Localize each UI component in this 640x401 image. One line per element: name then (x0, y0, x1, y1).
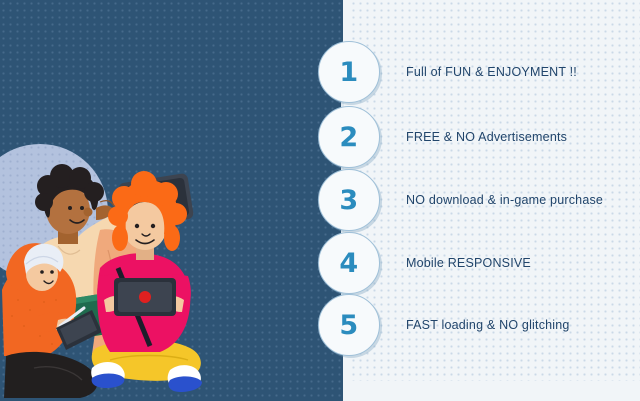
slide-canvas: 1 Full of FUN & ENJOYMENT !! 2 FREE & NO… (0, 0, 640, 401)
feature-number-4: 4 (339, 250, 358, 277)
feature-label-1: Full of FUN & ENJOYMENT !! (406, 65, 577, 79)
feature-item-1[interactable]: 1 Full of FUN & ENJOYMENT !! (318, 42, 577, 102)
feature-item-4[interactable]: 4 Mobile RESPONSIVE (318, 233, 531, 293)
feature-label-2: FREE & NO Advertisements (406, 130, 567, 144)
feature-label-5: FAST loading & NO glitching (406, 318, 570, 332)
feature-badge-2: 2 (318, 106, 380, 168)
feature-item-5[interactable]: 5 FAST loading & NO glitching (318, 295, 570, 355)
sneaker-left (91, 362, 125, 388)
feature-badge-4: 4 (318, 232, 380, 294)
feature-number-1: 1 (339, 59, 358, 86)
tablet-with-red-dot (114, 278, 176, 316)
feature-number-5: 5 (339, 312, 358, 339)
feature-label-4: Mobile RESPONSIVE (406, 256, 531, 270)
feature-number-2: 2 (339, 124, 358, 151)
feature-badge-5: 5 (318, 294, 380, 356)
feature-label-3: NO download & in-game purchase (406, 193, 603, 207)
left-illustration-panel (0, 0, 343, 401)
friends-illustration (0, 150, 215, 401)
feature-item-2[interactable]: 2 FREE & NO Advertisements (318, 107, 567, 167)
feature-item-3[interactable]: 3 NO download & in-game purchase (318, 170, 603, 230)
feature-badge-1: 1 (318, 41, 380, 103)
feature-number-3: 3 (339, 187, 358, 214)
feature-badge-3: 3 (318, 169, 380, 231)
